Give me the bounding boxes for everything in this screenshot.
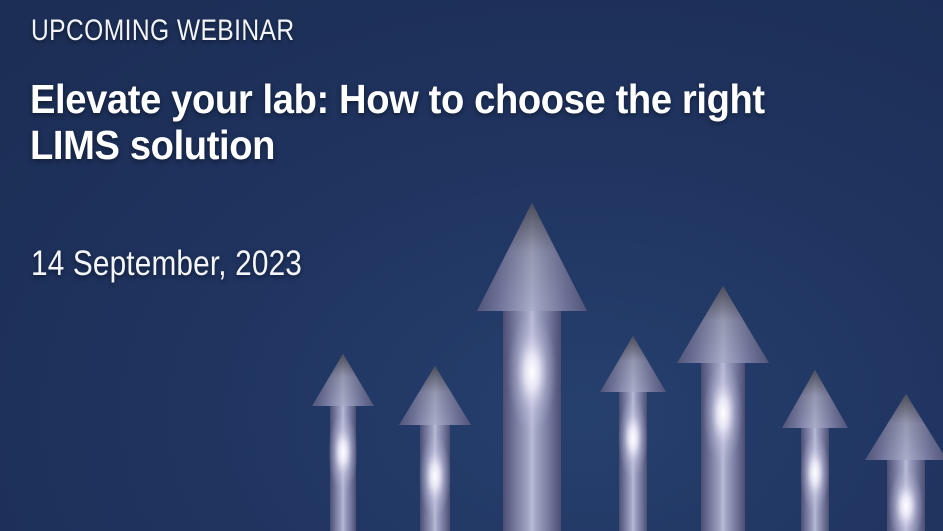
banner-text-layer: UPCOMING WEBINAR Elevate your lab: How t… — [0, 0, 943, 531]
event-date: 14 September, 2023 — [31, 246, 302, 281]
eyebrow-label: UPCOMING WEBINAR — [31, 16, 295, 46]
headline-line-1: Elevate your lab: How to choose the righ… — [30, 77, 867, 123]
page-title: Elevate your lab: How to choose the righ… — [30, 77, 867, 169]
webinar-promo-banner: UPCOMING WEBINAR Elevate your lab: How t… — [0, 0, 943, 531]
headline-line-2: LIMS solution — [30, 123, 867, 169]
